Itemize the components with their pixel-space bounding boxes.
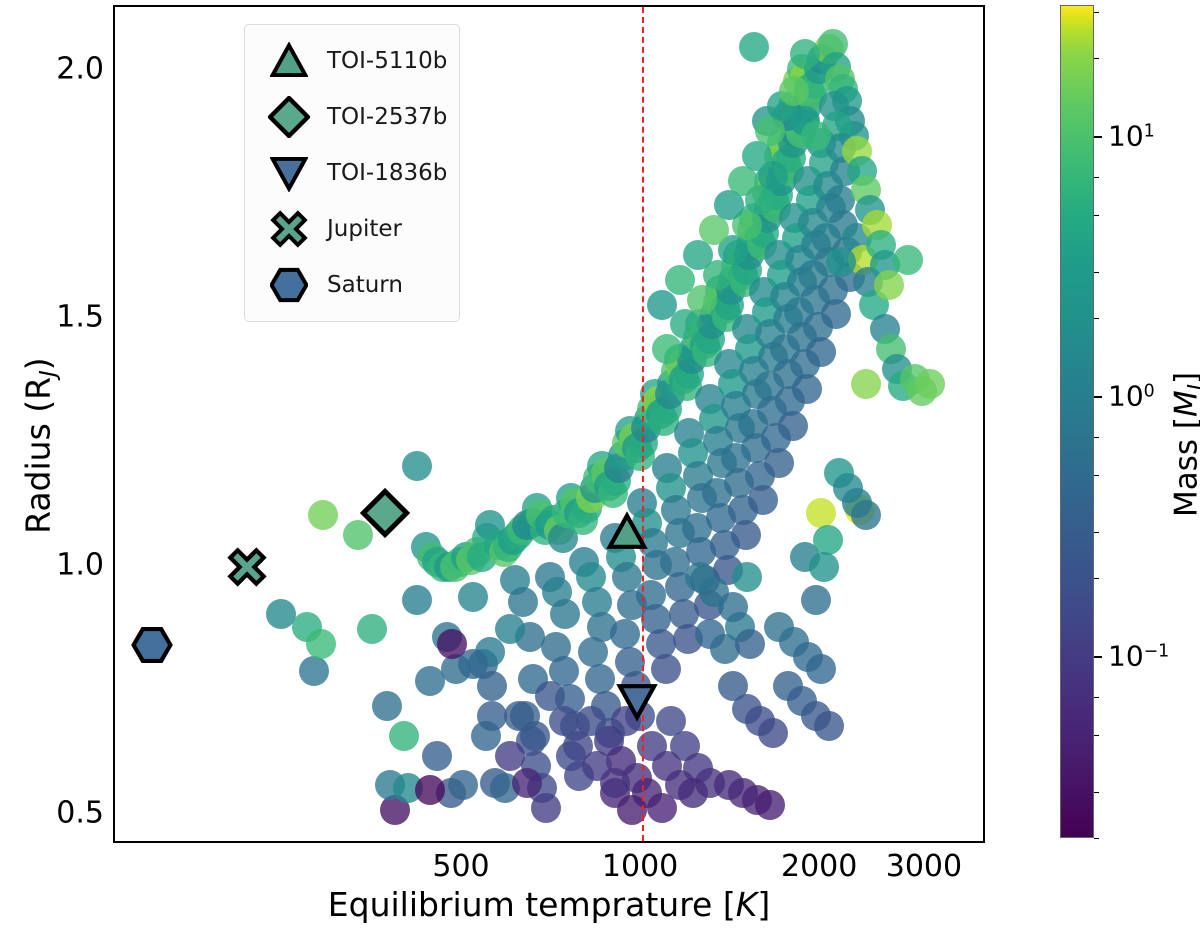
data-point [851,369,881,399]
legend-item-label: TOI-2537b [327,104,447,130]
data-point [893,245,923,275]
triangle-up-icon [263,42,315,80]
data-point [508,587,538,617]
colorbar-tick-minor [1094,578,1099,579]
data-point [585,664,615,694]
colorbar-tick-minor [1094,475,1099,476]
colorbar-tick-minor [1094,532,1099,533]
x-tick-mark [926,841,928,843]
colorbar-tick-minor [1094,177,1099,178]
highlight-marker-toi-5110b[interactable] [607,512,647,552]
legend-item-toi-5110b[interactable]: TOI-5110b [245,33,459,89]
legend-item-toi-2537b[interactable]: TOI-2537b [245,89,459,145]
data-point [731,520,761,550]
x-thick-icon [263,210,315,248]
data-point [821,299,851,329]
data-point [678,778,708,808]
y-tick-mark [113,71,115,73]
data-point [600,768,630,798]
colorbar-tick-minor [1094,318,1099,319]
colorbar-tick-minor [1094,838,1099,839]
data-point [683,240,713,270]
colorbar-tick-minor [1094,437,1099,438]
x-tick-minor [510,841,511,843]
y-tick-minor [113,369,115,370]
data-point [448,770,478,800]
legend-item-label: Saturn [327,272,403,298]
data-point [422,741,452,771]
triangle-down-icon [263,154,315,192]
x-tick-minor [879,841,880,843]
x-tick-mark [821,841,823,843]
data-point [826,247,856,277]
x-tick-minor [966,841,967,843]
diamond-icon [263,96,315,138]
x-tick-label: 500 [432,849,489,884]
y-tick-minor [113,518,115,519]
colorbar-label: Mass [MJ] [1169,234,1200,654]
legend-item-jupiter[interactable]: Jupiter [245,201,459,257]
colorbar: 10−1100101 [1060,5,1094,838]
data-point [458,582,488,612]
data-point [495,614,525,644]
legend-item-toi-1836b[interactable]: TOI-1836b [245,145,459,201]
data-point [813,525,843,555]
data-point [549,706,579,736]
colorbar-tick-mark [1094,396,1102,398]
colorbar-tick-minor [1094,697,1099,698]
y-tick-minor [113,220,115,221]
data-point [531,793,561,823]
y-tick-minor [113,766,115,767]
legend: TOI-5110bTOI-2537bTOI-1836bJupiterSaturn [244,24,460,322]
colorbar-tick-minor [1094,215,1099,216]
x-axis-label: Equilibrium temprature [K] [113,885,985,924]
y-tick-mark [113,567,115,569]
data-point [308,500,338,530]
colorbar-tick-mark [1094,656,1102,658]
data-point [647,793,677,823]
y-tick-label: 2.0 [8,52,104,87]
data-point [670,309,700,339]
colorbar-tick-minor [1094,735,1099,736]
x-tick-minor [584,841,585,843]
y-tick-minor [113,270,115,271]
plot-area: TOI-5110bTOI-2537bTOI-1836bJupiterSaturn [113,5,985,843]
y-tick-label: 1.0 [8,548,104,583]
x-tick-minor [747,841,748,843]
colorbar-tick-mark [1094,136,1102,138]
y-tick-label: 1.5 [8,300,104,335]
data-point [718,592,748,622]
y-tick-minor [113,121,115,122]
y-tick-minor [113,468,115,469]
y-tick-minor [113,617,115,618]
y-tick-label: 0.5 [8,796,104,831]
data-point [915,369,945,399]
data-point [652,334,682,364]
y-tick-minor [113,716,115,717]
data-point [779,76,809,106]
data-point [306,629,336,659]
data-point [851,500,881,530]
data-point [495,741,525,771]
x-tick-minor [550,841,551,843]
data-point [732,562,762,592]
hexagon-icon [263,266,315,304]
highlight-marker-saturn[interactable] [132,625,172,665]
data-point [790,39,820,69]
data-point [415,666,445,696]
data-point [874,270,904,300]
x-tick-minor [226,841,227,843]
x-tick-label: 1000 [602,849,678,884]
data-point [402,585,432,615]
data-point [389,721,419,751]
legend-item-label: TOI-1836b [327,160,447,186]
data-point [735,629,765,659]
x-tick-minor [615,841,616,843]
data-point [814,711,844,741]
y-tick-minor [113,171,115,172]
y-axis-label: Radius (RJ) [18,236,61,656]
colorbar-tick-label: 101 [1108,120,1155,153]
data-point [758,718,788,748]
data-point [550,599,580,629]
x-tick-mark [463,841,465,843]
data-point [357,614,387,644]
data-point [806,337,836,367]
y-tick-minor [113,666,115,667]
data-point [372,691,402,721]
colorbar-tick-minor [1094,12,1099,13]
x-tick-mark [642,841,644,843]
colorbar-tick-label: 100 [1108,380,1155,413]
data-point [665,265,695,295]
legend-item-saturn[interactable]: Saturn [245,257,459,313]
data-point [801,121,831,151]
colorbar-tick-minor [1094,272,1099,273]
data-point [764,448,794,478]
colorbar-tick-minor [1094,58,1099,59]
data-point [415,775,445,805]
data-point [437,629,467,659]
x-tick-label: 3000 [886,849,962,884]
data-point [610,619,640,649]
data-point [739,32,769,62]
data-point [792,374,822,404]
legend-item-label: Jupiter [327,216,402,242]
data-point [504,701,534,731]
data-point [755,790,785,820]
y-tick-minor [113,419,115,420]
data-point [647,290,677,320]
colorbar-tick-minor [1094,792,1099,793]
data-point [778,411,808,441]
colorbar-gradient [1060,5,1094,838]
data-point [748,485,778,515]
data-point [806,654,836,684]
highlight-marker-toi-1836b[interactable] [617,681,657,721]
data-point [299,656,329,686]
data-point [801,585,831,615]
data-point [806,498,836,528]
data-point [402,451,432,481]
x-tick-label: 2000 [781,849,857,884]
highlight-marker-jupiter[interactable] [227,547,267,587]
highlight-marker-toi-2537b[interactable] [361,489,409,537]
y-tick-mark [113,815,115,817]
data-point [578,637,608,667]
colorbar-tick-label: 10−1 [1108,640,1169,673]
legend-item-label: TOI-5110b [327,48,447,74]
y-tick-mark [113,319,115,321]
scatter-figure: TOI-5110bTOI-2537bTOI-1836bJupiterSaturn… [0,0,1200,929]
data-point [512,768,542,798]
data-point [809,552,839,582]
x-tick-minor [405,841,406,843]
x-tick-minor [331,841,332,843]
data-point [651,654,681,684]
